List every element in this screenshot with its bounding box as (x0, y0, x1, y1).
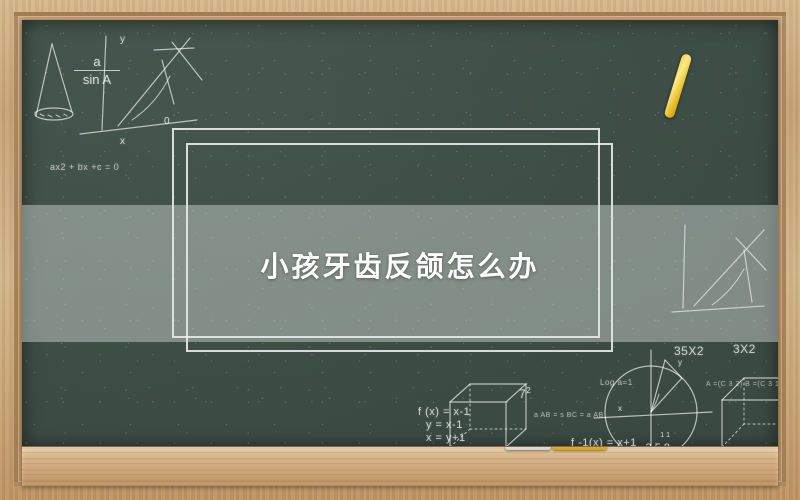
axis-label-y-circle: y (678, 358, 683, 367)
angle-label-top: 0 (164, 116, 170, 127)
axis-label-x-top: x (120, 136, 126, 147)
equation-segments: a AB = s BC = a AB (534, 412, 604, 419)
equation-quadratic: ax2 + bx +c = 0 (50, 162, 119, 172)
arithmetic-carry: 1 1 (622, 430, 670, 442)
white-chalk-in-tray (505, 446, 551, 450)
axis-label-y-top: y (120, 34, 126, 45)
chalkboard: a sin A y x 0 ax2 + bx +c = 0 f (x) = x-… (22, 20, 778, 447)
equation-log: Log a=1 (600, 378, 633, 387)
equation-combinations: A =(C 3 2) B =(C 3 1) I =(C 3 3) (706, 381, 778, 388)
page-title: 小孩牙齿反颌怎么办 (22, 245, 778, 285)
equation-x: x = y+1 (426, 432, 466, 444)
arithmetic-block: 1 1 3 5 8 2 7 9 6 3 7 (622, 430, 670, 447)
wooden-frame: a sin A y x 0 ax2 + bx +c = 0 f (x) = x-… (0, 0, 800, 500)
fraction-a-over-sina-top: a sin A (74, 56, 120, 86)
equation-y: y = x-1 (426, 419, 463, 431)
cube-sketch-right (722, 378, 778, 447)
equation-3x2: 3X2 (733, 342, 756, 356)
chalk-tray (22, 446, 778, 486)
power-7-squared: 72 (519, 386, 531, 401)
cone-sketch (35, 44, 73, 120)
equation-fx: f (x) = x-1 (418, 406, 470, 418)
equation-35x2: 35X2 (674, 344, 704, 358)
yellow-chalk-in-tray (552, 446, 607, 450)
axis-label-x-circle: x (618, 404, 623, 413)
fraction-bar (74, 70, 120, 71)
